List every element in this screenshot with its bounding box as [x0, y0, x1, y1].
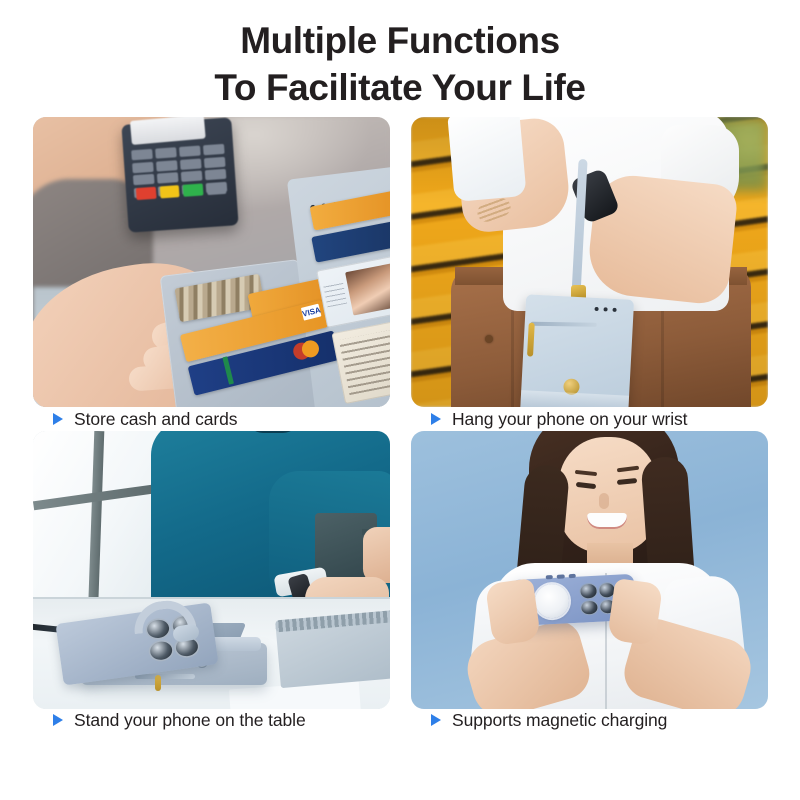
caption-text: Hang your phone on your wrist [452, 409, 687, 430]
spiral-notebook [275, 614, 390, 688]
caption-supports-magnetic-charging: Supports magnetic charging [411, 709, 768, 731]
magsafe-charging-ring-icon [534, 583, 570, 619]
triangle-right-icon [53, 714, 63, 726]
feature-panel-store-cash-and-cards[interactable]: VISA VISA VISA [33, 117, 390, 407]
caption-hang-phone-on-wrist: Hang your phone on your wrist [411, 407, 768, 431]
caption-stand-phone-on-table: Stand your phone on the table [33, 709, 390, 731]
skirt-button [485, 335, 493, 343]
visa-logo-icon: VISA [301, 304, 322, 321]
photo-store-cash-and-cards: VISA VISA VISA [33, 117, 390, 407]
title-line-2: To Facilitate Your Life [0, 65, 800, 112]
case-bottom-edge [520, 390, 629, 407]
id-signature [323, 282, 347, 307]
caption-store-cash-and-cards: Store cash and cards [33, 407, 390, 431]
feature-panel-stand-phone-on-table[interactable] [33, 431, 390, 709]
triangle-right-icon [431, 714, 441, 726]
hand-on-mug [363, 527, 390, 583]
feature-grid: VISA VISA VISA [33, 117, 768, 771]
paper-cup [447, 117, 526, 202]
zipper-pull [527, 322, 535, 356]
sweater-neckline [247, 431, 299, 433]
triangle-right-icon [53, 413, 63, 425]
caption-text: Supports magnetic charging [452, 710, 667, 731]
zipper-line [135, 674, 195, 679]
id-portrait-photo [345, 262, 390, 315]
photo-supports-magnetic-charging [411, 431, 768, 709]
terminal-screen [130, 117, 206, 145]
camera-dots-icon [594, 307, 620, 312]
caption-text: Store cash and cards [74, 409, 237, 430]
right-hand [607, 578, 663, 646]
page-title: Multiple Functions To Facilitate Your Li… [0, 18, 800, 112]
smiling-mouth [587, 513, 627, 529]
wallet-phone-case-hanging [520, 294, 634, 407]
photo-hang-phone-on-wrist [411, 117, 768, 407]
caption-text: Stand your phone on the table [74, 710, 306, 731]
title-line-1: Multiple Functions [0, 18, 800, 65]
feature-panel-supports-magnetic-charging[interactable] [411, 431, 768, 709]
left-hand [485, 578, 541, 646]
case-card-slots [546, 574, 576, 580]
product-infographic: Multiple Functions To Facilitate Your Li… [0, 0, 800, 800]
triangle-right-icon [431, 413, 441, 425]
nose [599, 493, 609, 509]
zipper-pull [155, 675, 161, 691]
license-text-lines [339, 326, 390, 395]
photo-stand-phone-on-table [33, 431, 390, 709]
wallet-phone-case-open: VISA VISA VISA [141, 158, 390, 407]
zipper-line [531, 322, 597, 327]
feature-panel-hang-phone-on-wrist[interactable] [411, 117, 768, 407]
